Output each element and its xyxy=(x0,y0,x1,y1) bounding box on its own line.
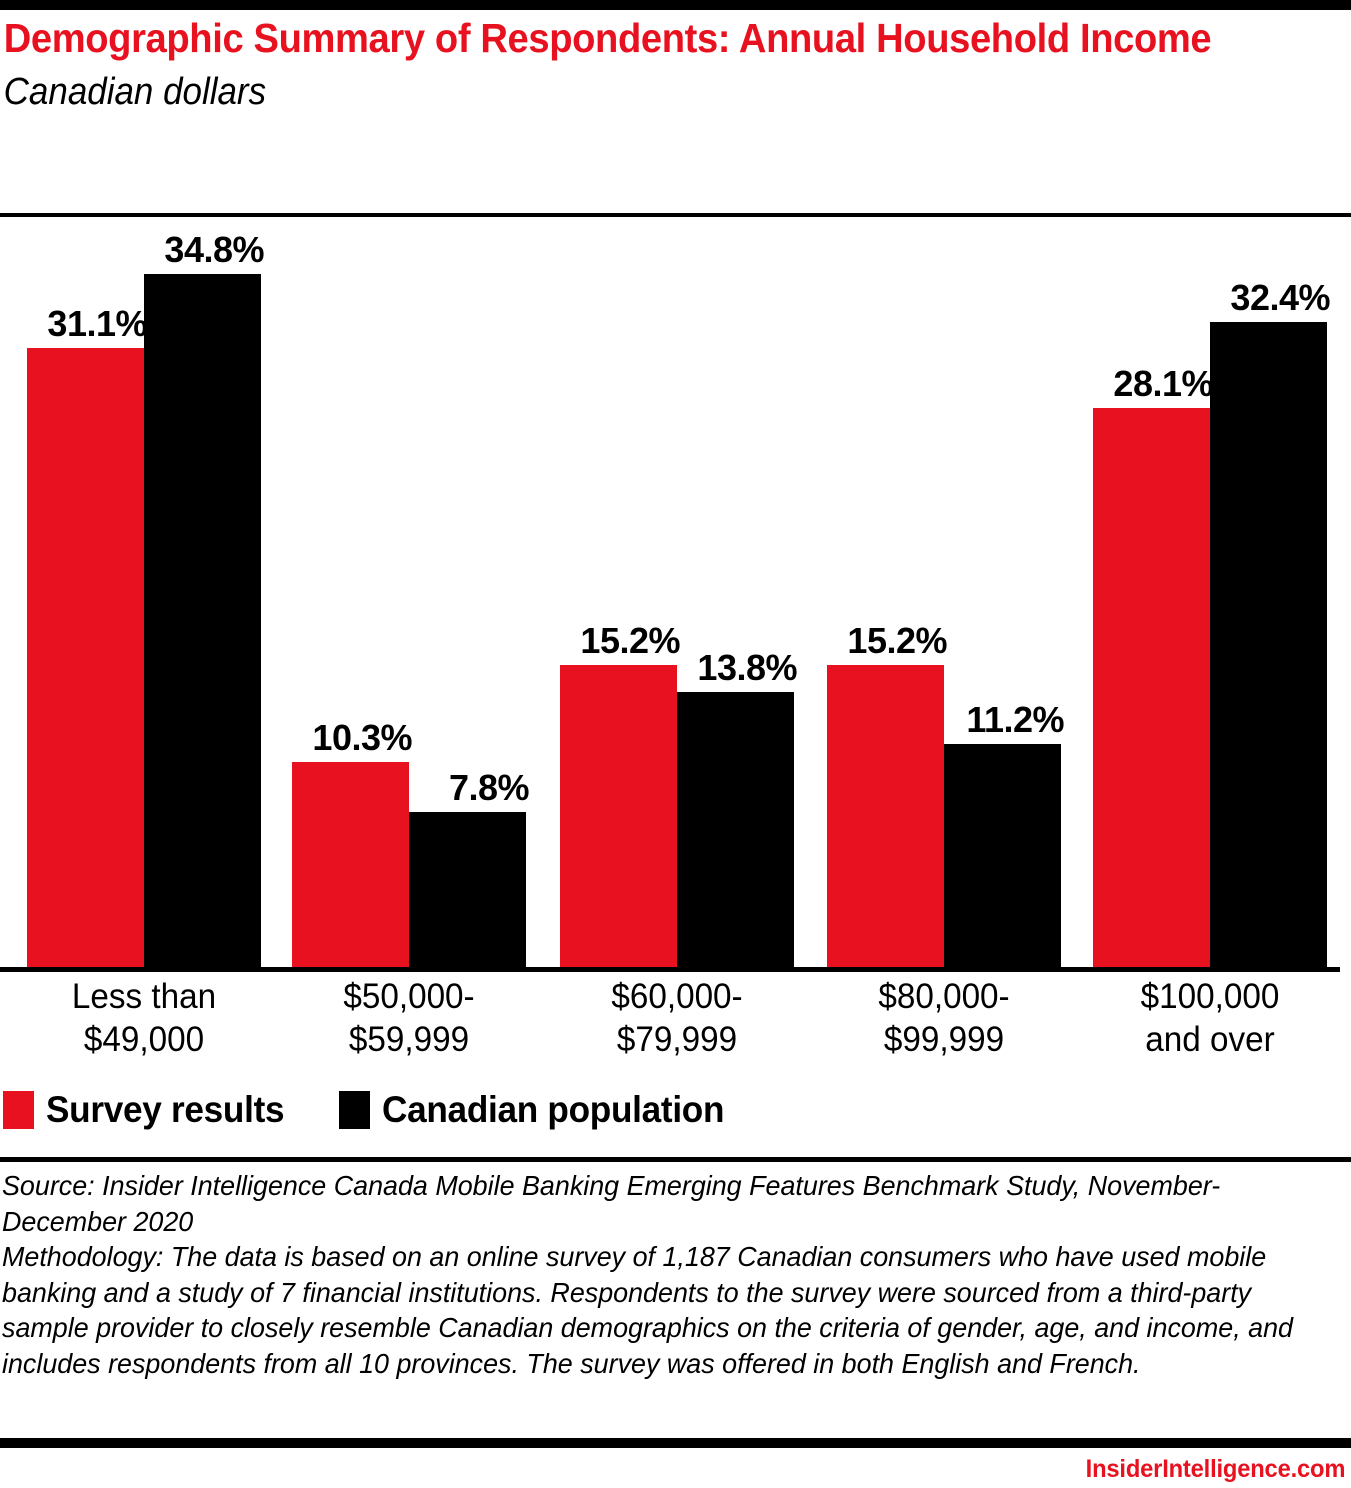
bar-chart-plot-area: 31.1%34.8%10.3%7.8%15.2%13.8%15.2%11.2%2… xyxy=(0,222,1351,970)
source-divider xyxy=(0,1157,1351,1162)
chart-header: Demographic Summary of Respondents: Annu… xyxy=(0,14,1351,214)
bar-canadian-population-2 xyxy=(677,692,794,967)
bar-survey-results-0 xyxy=(27,348,144,967)
bar-value-label-survey-results-3: 15.2% xyxy=(790,623,947,659)
bar-value-label-canadian-population-3: 11.2% xyxy=(907,702,1064,738)
bar-value-label-survey-results-1: 10.3% xyxy=(255,720,412,756)
bar-value-label-canadian-population-0: 34.8% xyxy=(107,232,264,268)
top-accent-rule xyxy=(0,0,1351,10)
bar-canadian-population-3 xyxy=(944,744,1061,967)
bar-canadian-population-1 xyxy=(409,812,526,967)
page-title: Demographic Summary of Respondents: Annu… xyxy=(0,14,1256,63)
chart-subtitle: Canadian dollars xyxy=(0,69,1243,115)
x-axis-label-4: $100,000 and over xyxy=(1078,975,1342,1061)
x-axis-label-1: $50,000- $59,999 xyxy=(277,975,541,1061)
legend-swatch-black-icon xyxy=(339,1091,370,1129)
legend-swatch-red-icon xyxy=(3,1091,34,1129)
bar-canadian-population-0 xyxy=(144,274,261,967)
x-axis-label-3: $80,000- $99,999 xyxy=(812,975,1076,1061)
legend-item-survey-results: Survey results xyxy=(3,1090,297,1130)
chart-legend: Survey results Canadian population xyxy=(0,1090,1351,1146)
legend-label-canadian-population: Canadian population xyxy=(382,1090,724,1130)
source-note: Source: Insider Intelligence Canada Mobi… xyxy=(2,1168,1293,1239)
bottom-accent-rule xyxy=(0,1438,1351,1448)
legend-label-survey-results: Survey results xyxy=(46,1090,284,1130)
bar-value-label-canadian-population-1: 7.8% xyxy=(372,770,529,806)
bar-value-label-survey-results-4: 28.1% xyxy=(1056,366,1213,402)
bar-survey-results-4 xyxy=(1093,408,1210,967)
bar-canadian-population-4 xyxy=(1210,322,1327,967)
bar-value-label-canadian-population-2: 13.8% xyxy=(640,650,797,686)
bar-value-label-canadian-population-4: 32.4% xyxy=(1173,280,1330,316)
x-axis-label-2: $60,000- $79,999 xyxy=(545,975,809,1061)
methodology-note: Methodology: The data is based on an onl… xyxy=(2,1239,1293,1381)
brand-url[interactable]: InsiderIntelligence.com xyxy=(1085,1455,1345,1484)
bar-value-label-survey-results-0: 31.1% xyxy=(0,306,147,342)
x-axis-label-0: Less than $49,000 xyxy=(12,975,276,1061)
x-axis-line xyxy=(0,967,1340,972)
x-axis-category-labels: Less than $49,000$50,000- $59,999$60,000… xyxy=(0,975,1351,1080)
legend-item-canadian-population: Canadian population xyxy=(339,1090,742,1130)
header-divider xyxy=(0,213,1351,217)
bar-survey-results-2 xyxy=(560,665,677,967)
footnotes: Source: Insider Intelligence Canada Mobi… xyxy=(2,1168,1347,1381)
